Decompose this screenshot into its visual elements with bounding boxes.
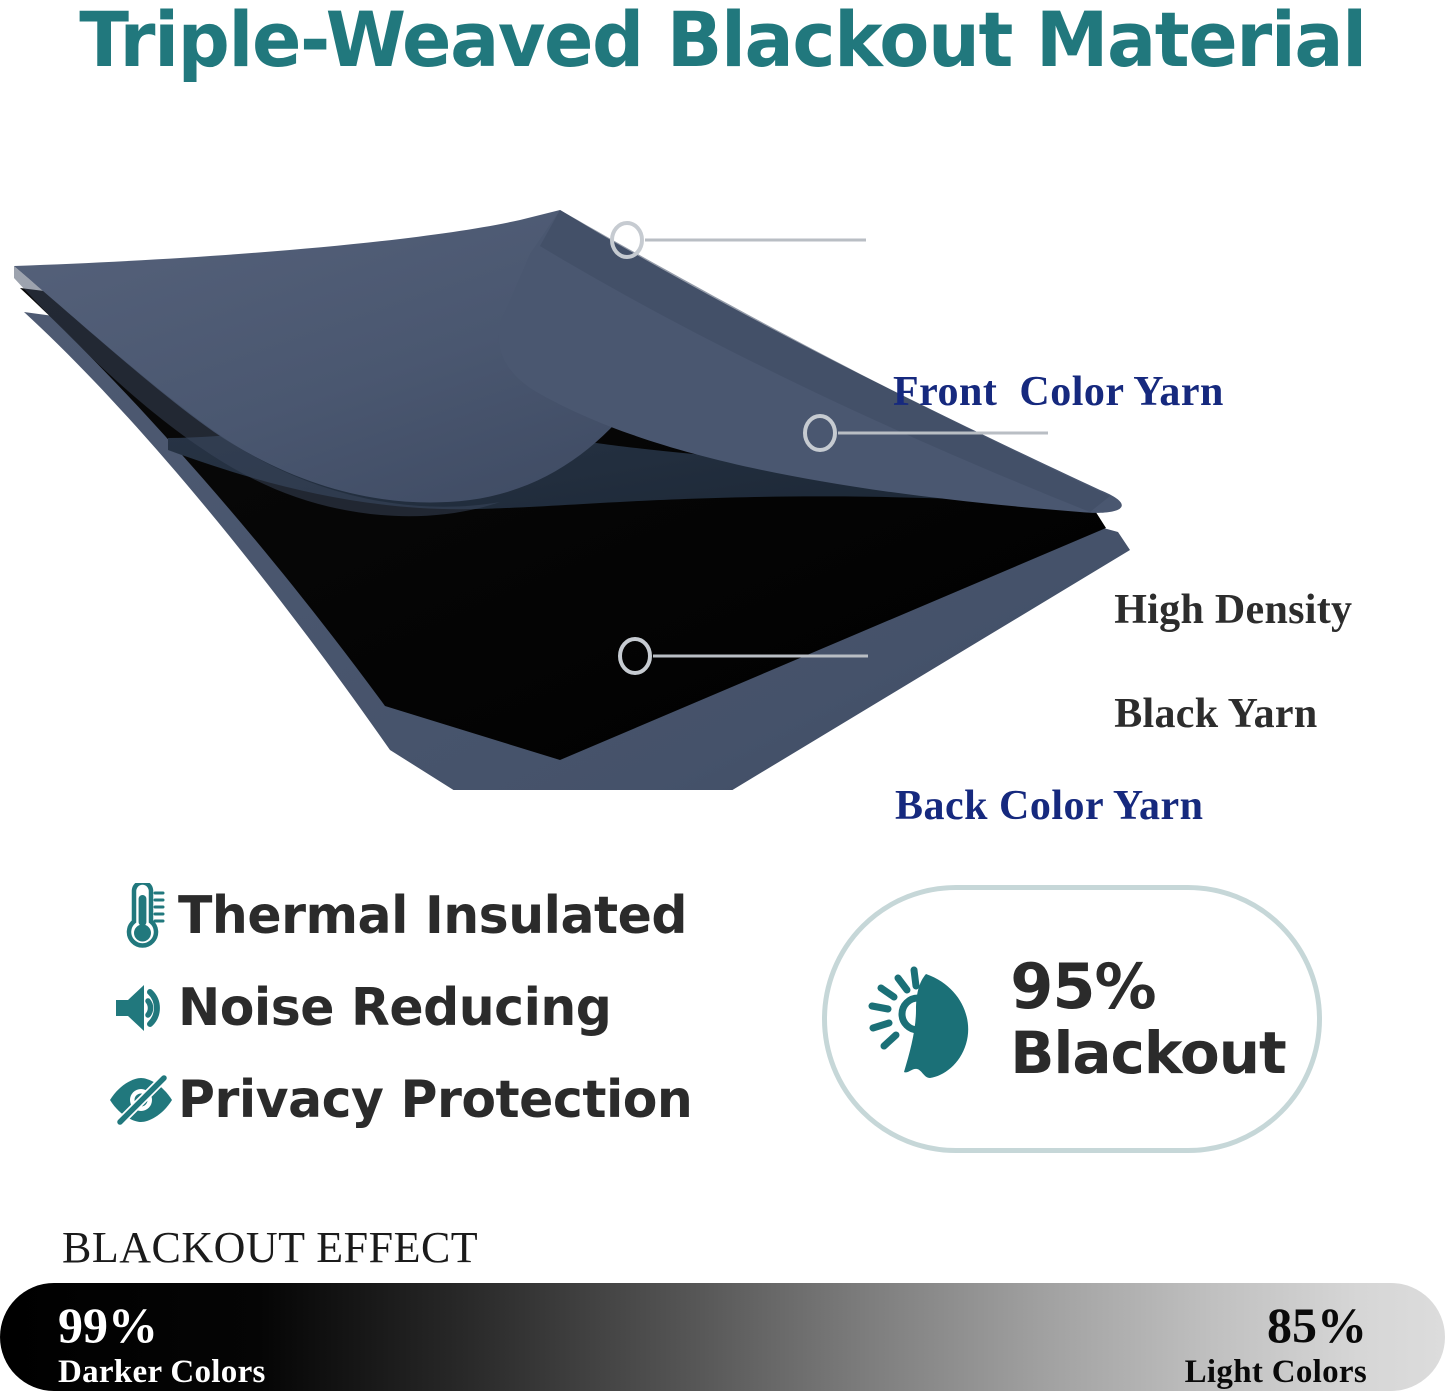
badge-word: Blackout — [1010, 1024, 1286, 1082]
blackout-effect-darker-colors: 99% Darker Colors — [58, 1300, 266, 1389]
blackout-percentage-badge: 95% Blackout — [822, 885, 1322, 1153]
feature-item-thermal-insulated: Thermal Insulated — [104, 872, 764, 960]
callout-label-back-color-yarn: Back Color Yarn — [895, 782, 1204, 830]
blackout-effect-light-colors: 85% Light Colors — [1185, 1300, 1367, 1389]
speaker-volume-icon — [104, 980, 178, 1036]
callout-leader-front — [612, 223, 866, 257]
feature-list: Thermal Insulated Noise Reducing — [104, 872, 764, 1148]
badge-percent: 95% — [1010, 956, 1286, 1018]
feature-label-privacy-protection: Privacy Protection — [178, 1070, 692, 1130]
badge-text-group: 95% Blackout — [1010, 956, 1286, 1082]
page-title: Triple-Weaved Blackout Material — [29, 0, 1416, 83]
feature-item-privacy-protection: Privacy Protection — [104, 1056, 764, 1144]
blackout-effect-heading: BLACKOUT EFFECT — [62, 1222, 478, 1273]
sun-blocked-icon — [864, 952, 982, 1087]
darker-colors-percent: 99% — [58, 1300, 266, 1350]
feature-item-noise-reducing: Noise Reducing — [104, 964, 764, 1052]
eye-slash-icon — [104, 1074, 178, 1126]
feature-label-thermal-insulated: Thermal Insulated — [178, 886, 687, 946]
callout-label-high-density-black-yarn: High Density Black Yarn — [1071, 532, 1352, 792]
darker-colors-label: Darker Colors — [58, 1356, 266, 1389]
feature-label-noise-reducing: Noise Reducing — [178, 978, 611, 1038]
fabric-layer-diagram: Front Color Yarn High Density Black Yarn… — [0, 150, 1445, 790]
thermometer-icon — [104, 883, 178, 949]
light-colors-label: Light Colors — [1185, 1356, 1367, 1389]
callout-label-line2: Black Yarn — [1114, 691, 1317, 737]
callout-label-front-color-yarn: Front Color Yarn — [893, 368, 1224, 416]
callout-label-line1: High Density — [1114, 587, 1352, 633]
light-colors-percent: 85% — [1185, 1300, 1367, 1350]
